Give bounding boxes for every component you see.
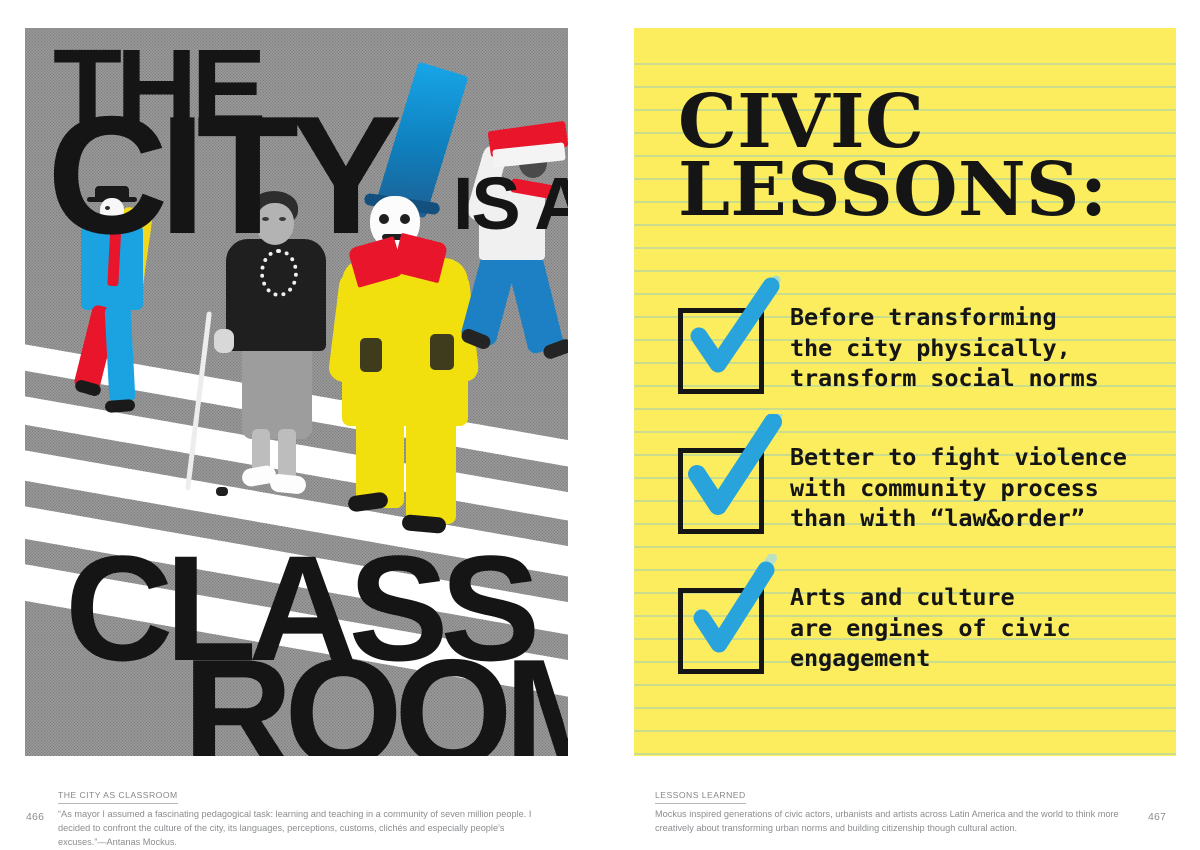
poster-word-room: ROOM xyxy=(183,653,568,756)
civic-lessons-title: CIVIC LESSONS: xyxy=(678,88,1156,224)
lesson-checkbox-0[interactable] xyxy=(678,308,764,394)
caption-left: THE CITY AS CLASSROOM “As mayor I assume… xyxy=(58,789,548,850)
caption-right: LESSONS LEARNED Mockus inspired generati… xyxy=(655,789,1145,836)
caption-heading: LESSONS LEARNED xyxy=(655,789,746,804)
lesson-item: Before transforming the city physically,… xyxy=(678,302,1099,394)
checkbox-outline xyxy=(678,588,764,674)
lesson-text: Arts and culture are engines of civic en… xyxy=(790,582,1071,674)
page-number-right: 467 xyxy=(1148,811,1166,823)
poster-word-is-a: IS A xyxy=(453,174,568,233)
page-number-left: 466 xyxy=(26,811,44,823)
lesson-item: Arts and culture are engines of civic en… xyxy=(678,582,1071,674)
checkbox-outline xyxy=(678,308,764,394)
caption-body: Mockus inspired generations of civic act… xyxy=(655,808,1145,836)
caption-body: “As mayor I assumed a fascinating pedago… xyxy=(58,808,548,850)
left-page-poster: THE CITY IS A CLASS ROOM xyxy=(25,28,568,756)
checkbox-outline xyxy=(678,448,764,534)
lesson-text: Better to fight violence with community … xyxy=(790,442,1127,534)
lesson-checkbox-2[interactable] xyxy=(678,588,764,674)
lesson-checkbox-1[interactable] xyxy=(678,448,764,534)
caption-heading: THE CITY AS CLASSROOM xyxy=(58,789,178,804)
right-page-notepad: CIVIC LESSONS: Before transforming the c… xyxy=(634,28,1176,756)
poster-word-city: CITY xyxy=(47,108,393,242)
lesson-item: Better to fight violence with community … xyxy=(678,442,1127,534)
lesson-text: Before transforming the city physically,… xyxy=(790,302,1099,394)
